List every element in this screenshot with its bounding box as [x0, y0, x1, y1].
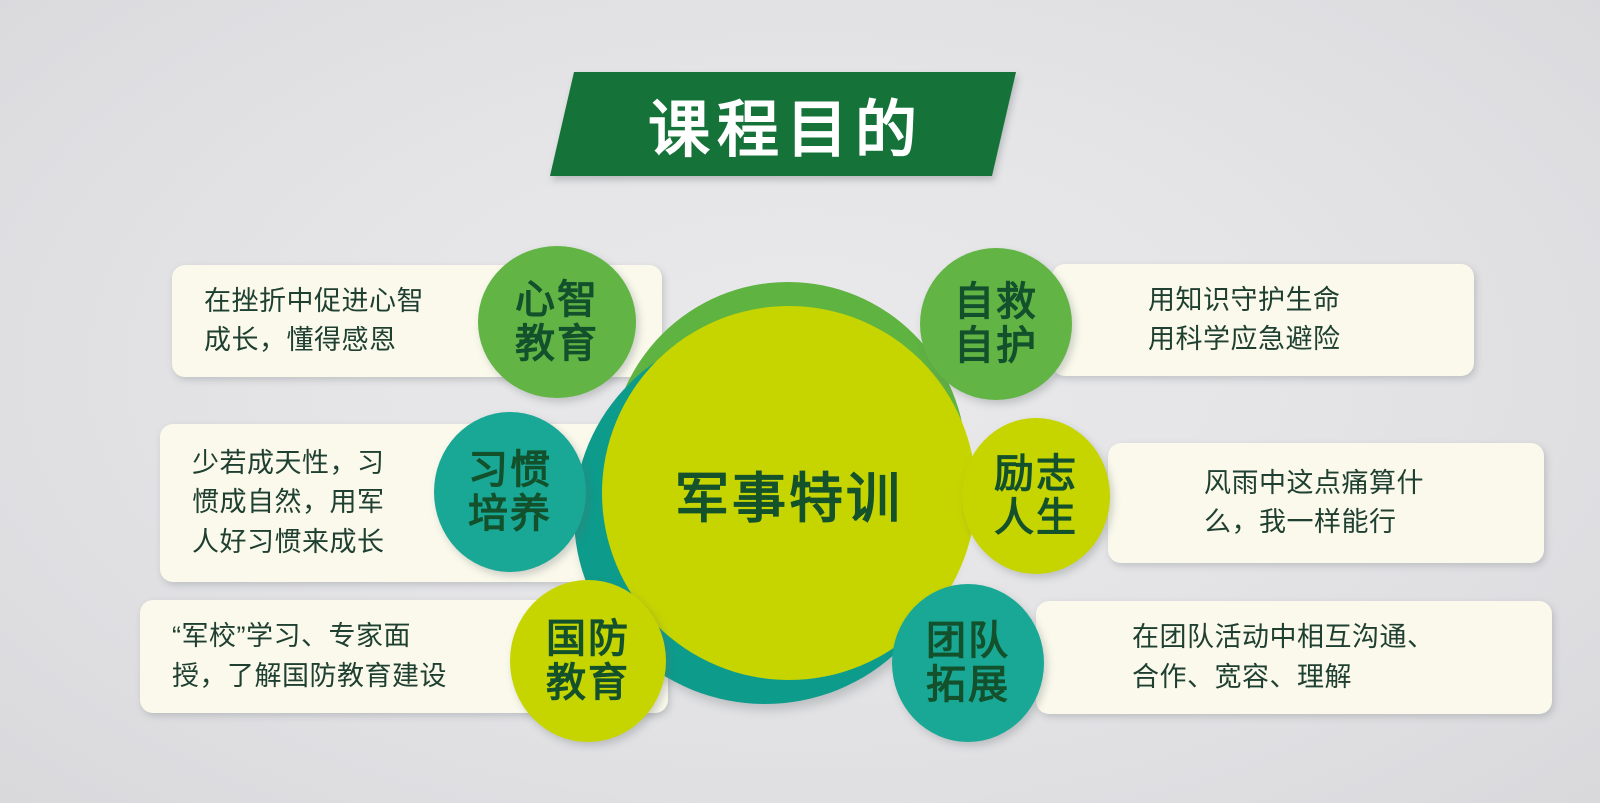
node-label-line1: 团队 — [926, 619, 1010, 663]
node-circle-mind-education[interactable]: 心智 教育 — [478, 246, 636, 398]
node-circle-self-rescue-self-protection[interactable]: 自救 自护 — [920, 248, 1072, 400]
node-label-line1: 心智 — [515, 278, 599, 322]
node-label-line2: 人生 — [994, 496, 1078, 540]
node-label-line2: 教育 — [515, 322, 599, 366]
description-text: 用知识守护生命 用科学应急避险 — [1148, 281, 1444, 360]
description-text: 风雨中这点痛算什 么，我一样能行 — [1204, 464, 1514, 543]
description-box-team-expansion: 在团队活动中相互沟通、 合作、宽容、理解 — [1036, 601, 1552, 714]
page-title-banner: 课程目的 — [562, 72, 1004, 176]
node-label-line1: 国防 — [546, 617, 630, 661]
description-box-self-rescue-self-protection: 用知识守护生命 用科学应急避险 — [1052, 264, 1474, 376]
description-text: 在团队活动中相互沟通、 合作、宽容、理解 — [1132, 618, 1522, 697]
node-label-line1: 习惯 — [468, 448, 552, 492]
page-title: 课程目的 — [562, 72, 1004, 176]
node-label-line2: 自护 — [954, 324, 1038, 368]
node-circle-inspirational-life[interactable]: 励志 人生 — [962, 418, 1110, 574]
node-label-line2: 拓展 — [926, 663, 1010, 707]
description-text: 在挫折中促进心智 成长，懂得感恩 — [204, 282, 424, 361]
node-circle-national-defense-education[interactable]: 国防 教育 — [510, 580, 666, 742]
node-label-line2: 培养 — [468, 492, 552, 536]
description-text: 少若成天性，习 惯成自然，用军 人好习惯来成长 — [192, 444, 385, 562]
description-text: “军校”学习、专家面 授，了解国防教育建设 — [172, 617, 447, 696]
description-box-inspirational-life: 风雨中这点痛算什 么，我一样能行 — [1108, 443, 1544, 563]
node-label-line2: 教育 — [546, 661, 630, 705]
node-label-line1: 励志 — [994, 452, 1078, 496]
node-circle-team-expansion[interactable]: 团队 拓展 — [892, 584, 1044, 742]
node-circle-habit-cultivation[interactable]: 习惯 培养 — [434, 412, 586, 572]
infographic-canvas: 课程目的 在挫折中促进心智 成长，懂得感恩 少若成天性，习 惯成自然，用军 人好… — [0, 0, 1600, 803]
node-label-line1: 自救 — [954, 280, 1038, 324]
